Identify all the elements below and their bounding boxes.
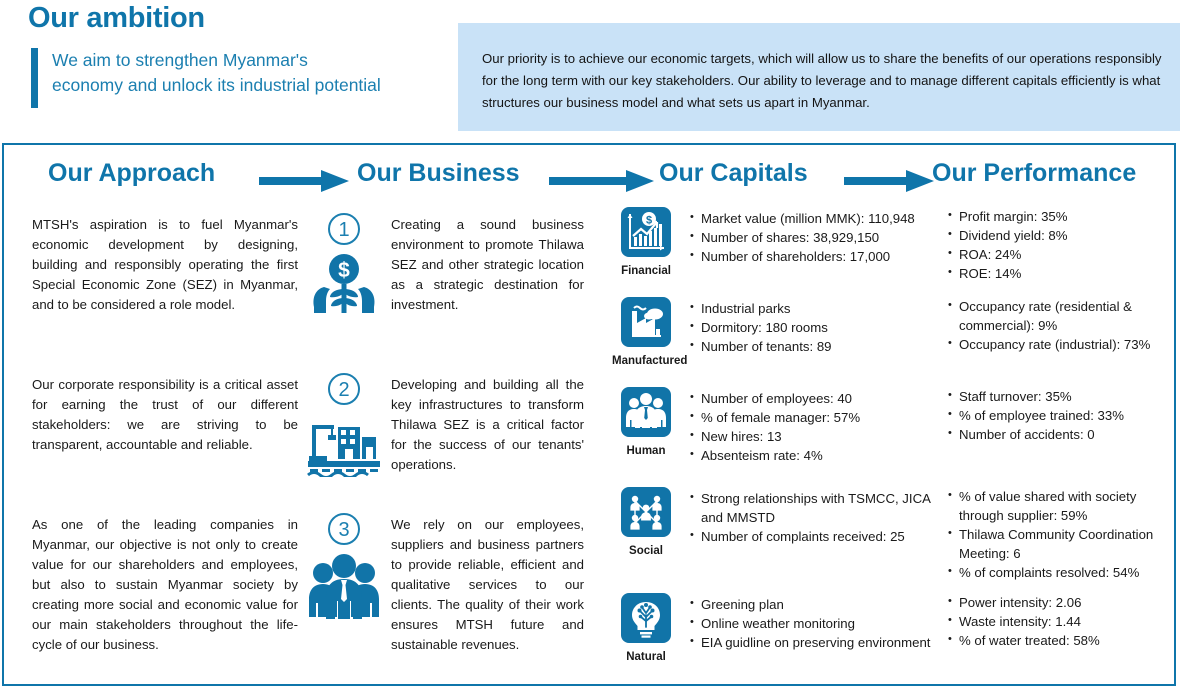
- capital-bullet-list: Greening plan Online weather monitoring …: [690, 595, 942, 652]
- bullet-item: EIA guidline on preserving environment: [690, 633, 942, 652]
- construction-crane-buildings-icon: [299, 411, 389, 482]
- bullet-item: Dividend yield: 8%: [948, 226, 1170, 245]
- approach-paragraph: As one of the leading companies in Myanm…: [32, 515, 298, 655]
- capital-icon-box: Social: [612, 487, 680, 557]
- three-people-icon: [621, 387, 671, 437]
- factory-icon: [621, 297, 671, 347]
- bullet-item: % of female manager: 57%: [690, 408, 942, 427]
- bullet-item: % of employee trained: 33%: [948, 406, 1170, 425]
- column-heading-capitals: Our Capitals: [659, 159, 808, 188]
- bullet-item: Occupancy rate (industrial): 73%: [948, 335, 1170, 354]
- bullet-item: Industrial parks: [690, 299, 942, 318]
- bullet-item: Online weather monitoring: [690, 614, 942, 633]
- capital-bullet-list: Market value (million MMK): 110,948 Numb…: [690, 209, 942, 266]
- arrow-right-icon: [549, 170, 654, 192]
- performance-group: Staff turnover: 35% % of employee traine…: [948, 387, 1170, 444]
- capital-label: Financial: [612, 265, 680, 277]
- bullet-item: Dormitory: 180 rooms: [690, 318, 942, 337]
- performance-bullet-list: Profit margin: 35% Dividend yield: 8% RO…: [948, 207, 1170, 283]
- step-number-badge: 3: [328, 513, 360, 545]
- capital-icon-box: $ Financial: [612, 207, 680, 277]
- bullet-item: ROA: 24%: [948, 245, 1170, 264]
- bullet-item: Profit margin: 35%: [948, 207, 1170, 226]
- capital-bullet-list: Industrial parks Dormitory: 180 rooms Nu…: [690, 299, 942, 356]
- bullet-item: % of complaints resolved: 54%: [948, 563, 1170, 582]
- performance-group: % of value shared with society through s…: [948, 487, 1170, 582]
- bullet-item: Number of shares: 38,929,150: [690, 228, 942, 247]
- bullet-item: Number of tenants: 89: [690, 337, 942, 356]
- approach-paragraph: Our corporate responsibility is a critic…: [32, 375, 298, 455]
- capital-label: Human: [612, 445, 680, 457]
- column-heading-performance: Our Performance: [932, 159, 1136, 188]
- approach-paragraph: MTSH's aspiration is to fuel Myanmar's e…: [32, 215, 298, 315]
- lightbulb-tree-icon: [621, 593, 671, 643]
- header-section: Our ambition We aim to strengthen Myanma…: [0, 0, 1180, 140]
- capital-label: Social: [612, 545, 680, 557]
- bullet-item: Number of shareholders: 17,000: [690, 247, 942, 266]
- group-of-people-icon: [299, 551, 389, 626]
- bullet-item: Number of employees: 40: [690, 389, 942, 408]
- step-number-badge: 2: [328, 373, 360, 405]
- bullet-item: Strong relationships with TSMCC, JICA an…: [690, 489, 942, 527]
- capital-bullet-list: Number of employees: 40 % of female mana…: [690, 389, 942, 465]
- svg-text:$: $: [646, 215, 652, 227]
- bullet-item: ROE: 14%: [948, 264, 1170, 283]
- capital-icon-box: Natural: [612, 593, 680, 663]
- bullet-item: Thilawa Community Coordination Meeting: …: [948, 525, 1170, 563]
- column-heading-business: Our Business: [357, 159, 520, 188]
- business-item-text: We rely on our employees, suppliers and …: [391, 515, 584, 655]
- performance-bullet-list: Occupancy rate (residential & commercial…: [948, 297, 1170, 354]
- business-icon-group: 1 $: [299, 213, 389, 322]
- column-heading-approach: Our Approach: [48, 159, 215, 188]
- growth-chart-dollar-icon: $: [621, 207, 671, 257]
- bullet-item: Waste intensity: 1.44: [948, 612, 1170, 631]
- arrow-right-icon: [259, 170, 349, 192]
- bullet-item: Number of complaints received: 25: [690, 527, 942, 546]
- step-number-badge: 1: [328, 213, 360, 245]
- people-network-icon: [621, 487, 671, 537]
- performance-group: Occupancy rate (residential & commercial…: [948, 297, 1170, 354]
- accent-bar: [31, 48, 38, 108]
- business-icon-group: 3: [299, 513, 389, 626]
- svg-text:$: $: [338, 259, 350, 282]
- performance-group: Profit margin: 35% Dividend yield: 8% RO…: [948, 207, 1170, 283]
- bullet-item: Absenteism rate: 4%: [690, 446, 942, 465]
- page-title: Our ambition: [28, 2, 205, 35]
- performance-bullet-list: Staff turnover: 35% % of employee traine…: [948, 387, 1170, 444]
- bullet-item: Market value (million MMK): 110,948: [690, 209, 942, 228]
- bullet-item: Power intensity: 2.06: [948, 593, 1170, 612]
- capital-label: Natural: [612, 651, 680, 663]
- bullet-item: New hires: 13: [690, 427, 942, 446]
- business-icon-group: 2: [299, 373, 389, 482]
- arrow-right-icon: [844, 170, 934, 192]
- hands-holding-money-plant-icon: $: [299, 251, 389, 322]
- value-creation-panel: Our Approach Our Business Our Capitals O…: [2, 143, 1176, 686]
- priority-callout-box: Our priority is to achieve our economic …: [458, 23, 1180, 131]
- performance-group: Power intensity: 2.06 Waste intensity: 1…: [948, 593, 1170, 650]
- capital-bullet-list: Strong relationships with TSMCC, JICA an…: [690, 489, 942, 546]
- bullet-item: Staff turnover: 35%: [948, 387, 1170, 406]
- business-item-text: Creating a sound business environment to…: [391, 215, 584, 315]
- bullet-item: Greening plan: [690, 595, 942, 614]
- bullet-item: % of value shared with society through s…: [948, 487, 1170, 525]
- capital-label: Manufactured: [612, 355, 680, 367]
- capital-icon-box: Manufactured: [612, 297, 680, 367]
- bullet-item: Number of accidents: 0: [948, 425, 1170, 444]
- page-subtitle: We aim to strengthen Myanmar's economy a…: [52, 48, 382, 98]
- performance-bullet-list: Power intensity: 2.06 Waste intensity: 1…: [948, 593, 1170, 650]
- capital-icon-box: Human: [612, 387, 680, 457]
- bullet-item: % of water treated: 58%: [948, 631, 1170, 650]
- business-item-text: Developing and building all the key infr…: [391, 375, 584, 475]
- priority-text: Our priority is to achieve our economic …: [482, 48, 1162, 114]
- performance-bullet-list: % of value shared with society through s…: [948, 487, 1170, 582]
- bullet-item: Occupancy rate (residential & commercial…: [948, 297, 1170, 335]
